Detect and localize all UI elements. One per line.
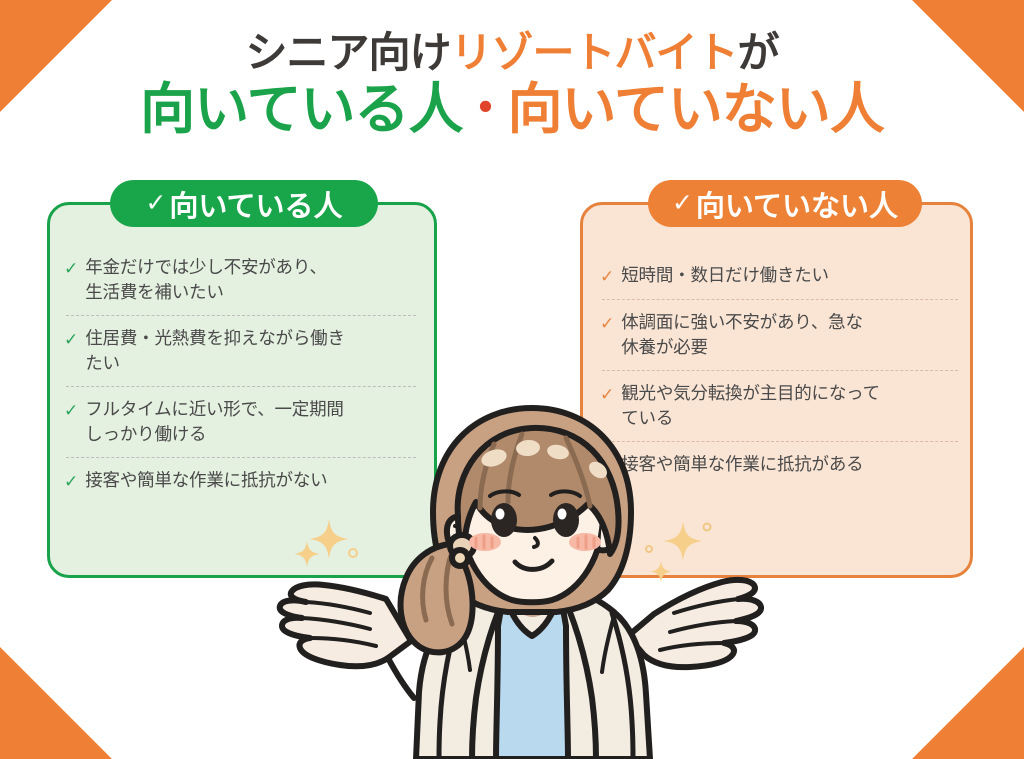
poster-canvas: シニア向けリゾートバイトが 向いている人・向いていない人 ✓向いている人 ✓ 年… — [0, 0, 1024, 759]
title-segment-resort-baito: リゾートバイト — [450, 29, 737, 76]
title-segment-ga: が — [738, 29, 779, 76]
card-not-suited-header: ✓向いていない人 — [648, 180, 922, 227]
list-item: ✓ 体調面に強い不安があり、急な休養が必要 — [596, 310, 964, 360]
title-line-2: 向いている人・向いていない人 — [0, 82, 1024, 137]
check-icon: ✓ — [64, 398, 78, 423]
check-icon: ✓ — [64, 256, 78, 281]
page-title: シニア向けリゾートバイトが 向いている人・向いていない人 — [0, 32, 1024, 137]
card-suited-header: ✓向いている人 — [110, 180, 378, 227]
check-icon: ✓ — [600, 264, 614, 289]
check-icon: ✓ — [64, 469, 78, 494]
title-segment-separator: ・ — [463, 82, 508, 134]
corner-triangle-bottom-right — [912, 647, 1024, 759]
list-item: ✓ 年金だけでは少し不安があり、生活費を補いたい — [60, 255, 422, 305]
title-segment-not-suited: 向いていない人 — [508, 78, 884, 140]
corner-triangle-bottom-left — [0, 647, 112, 759]
list-item: ✓ 短時間・数日だけ働きたい — [596, 263, 964, 289]
list-item-label: 住居費・光熱費を抑えながら働きたい — [85, 326, 345, 376]
card-suited-header-label: 向いている人 — [169, 183, 342, 225]
list-item-label: 年金だけでは少し不安があり、生活費を補いたい — [85, 255, 327, 305]
list-divider — [66, 315, 416, 316]
check-icon: ✓ — [64, 327, 78, 352]
title-line-1: シニア向けリゾートバイトが — [0, 32, 1024, 74]
title-segment-suited: 向いている人 — [140, 78, 462, 140]
list-divider — [602, 370, 958, 371]
list-item-label: 短時間・数日だけ働きたい — [621, 263, 829, 288]
title-segment-senior: シニア向け — [245, 29, 450, 76]
list-item: ✓ 住居費・光熱費を抑えながら働きたい — [60, 326, 422, 376]
card-not-suited-header-label: 向いていない人 — [696, 183, 898, 225]
check-icon: ✓ — [600, 311, 614, 336]
check-icon: ✓ — [145, 188, 166, 218]
list-item-label: 体調面に強い不安があり、急な休養が必要 — [621, 310, 863, 360]
list-divider — [602, 299, 958, 300]
woman-shrugging-illustration — [236, 386, 806, 759]
check-icon: ✓ — [672, 188, 693, 218]
